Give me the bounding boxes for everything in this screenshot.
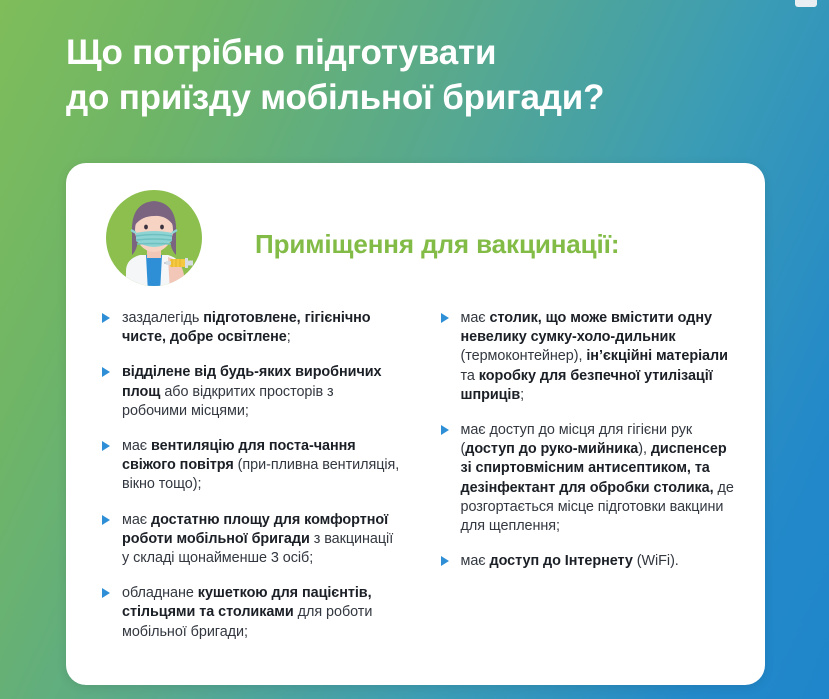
card-header: Приміщення для вакцинації: xyxy=(100,183,745,293)
content-card: Приміщення для вакцинації: заздалегідь п… xyxy=(66,163,765,685)
bullet-column-left: заздалегідь підготовлене, гігієнічно чис… xyxy=(100,309,403,642)
triangle-bullet-icon xyxy=(441,556,449,566)
triangle-bullet-icon xyxy=(441,313,449,323)
triangle-bullet-icon xyxy=(102,313,110,323)
triangle-bullet-icon xyxy=(102,367,110,377)
bullet-item: заздалегідь підготовлене, гігієнічно чис… xyxy=(100,309,403,347)
bullet-text: має достатню площу для комфортної роботи… xyxy=(122,512,393,566)
bullet-columns: заздалегідь підготовлене, гігієнічно чис… xyxy=(100,309,741,642)
triangle-bullet-icon xyxy=(102,588,110,598)
bullet-item: відділене від будь-яких виробничих площ … xyxy=(100,363,403,421)
bullet-item: обладнане кушеткою для пацієнтів, стільц… xyxy=(100,584,403,642)
bullet-text: обладнане кушеткою для пацієнтів, стільц… xyxy=(122,585,372,639)
bullet-item: має доступ до Інтернету (WiFi). xyxy=(439,552,742,571)
infographic-page: Що потрібно підготувати до приїзду мобіл… xyxy=(0,0,829,699)
triangle-bullet-icon xyxy=(102,515,110,525)
bullet-item: має доступ до місця для гігієни рук (дос… xyxy=(439,421,742,536)
bullet-text: має доступ до місця для гігієни рук (дос… xyxy=(461,422,734,534)
bullet-column-right: має столик, що може вмістити одну невели… xyxy=(439,309,742,642)
top-right-edge-artifact xyxy=(795,0,817,7)
bullet-item: має вентиляцію для поста-чання свіжого п… xyxy=(100,437,403,495)
bullet-text: має столик, що може вмістити одну невели… xyxy=(461,310,728,403)
bullet-text: відділене від будь-яких виробничих площ … xyxy=(122,364,382,418)
triangle-bullet-icon xyxy=(441,425,449,435)
vaccination-nurse-illustration xyxy=(100,183,208,293)
bullet-text: має вентиляцію для поста-чання свіжого п… xyxy=(122,438,399,492)
bullet-text: має доступ до Інтернету (WiFi). xyxy=(461,553,679,569)
bullet-text: заздалегідь підготовлене, гігієнічно чис… xyxy=(122,310,371,345)
bullet-item: має достатню площу для комфортної роботи… xyxy=(100,511,403,569)
triangle-bullet-icon xyxy=(102,441,110,451)
page-title: Що потрібно підготувати до приїзду мобіл… xyxy=(66,30,806,120)
bullet-item: має столик, що може вмістити одну невели… xyxy=(439,309,742,405)
section-heading: Приміщення для вакцинації: xyxy=(255,229,619,260)
